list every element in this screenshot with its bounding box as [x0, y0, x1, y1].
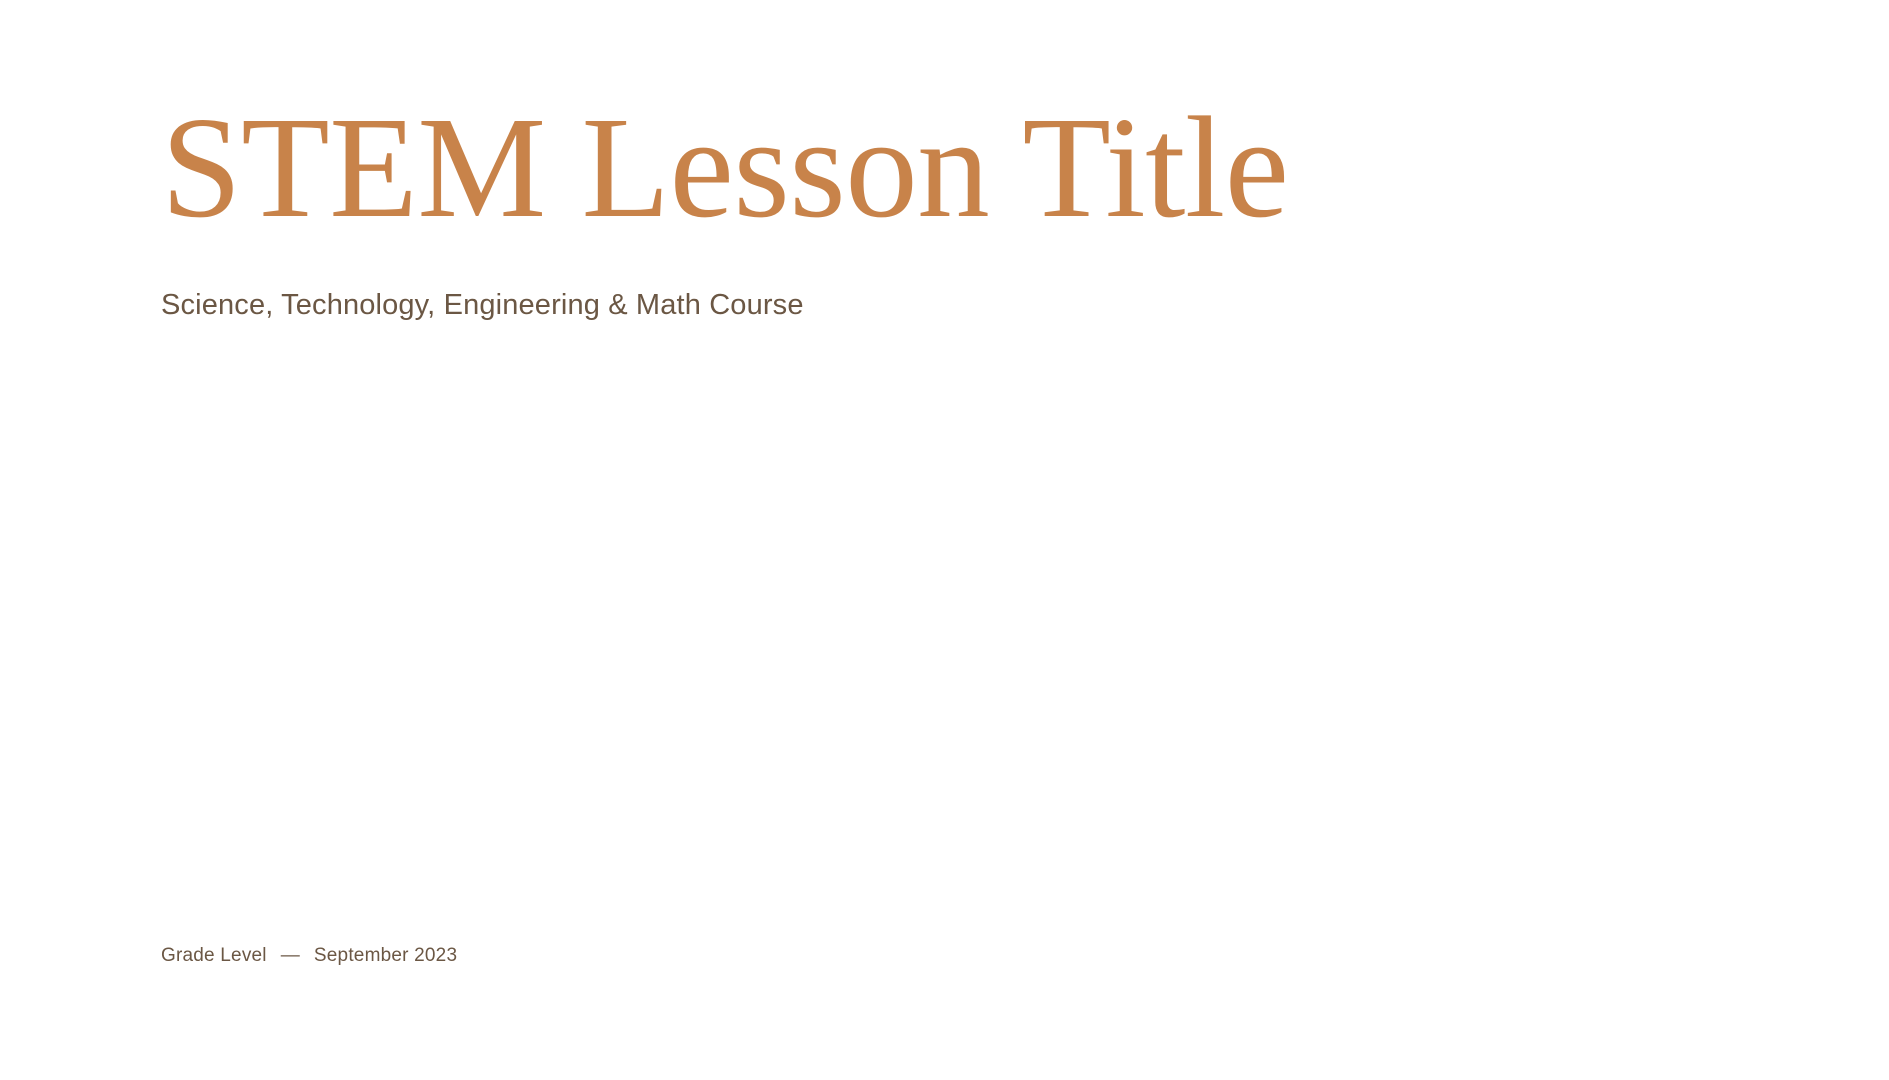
slide-content-area — [161, 380, 1728, 900]
footer-separator: — — [267, 944, 314, 969]
page-subtitle: Science, Technology, Engineering & Math … — [161, 241, 1661, 323]
slide-footer: Grade Level — September 2023 — [161, 944, 457, 969]
footer-date: September 2023 — [314, 944, 457, 969]
page-title: STEM Lesson Title — [161, 96, 1661, 241]
title-slide: STEM Lesson Title Science, Technology, E… — [0, 0, 1889, 1080]
footer-grade-label: Grade Level — [161, 944, 267, 969]
title-block: STEM Lesson Title Science, Technology, E… — [161, 96, 1661, 323]
